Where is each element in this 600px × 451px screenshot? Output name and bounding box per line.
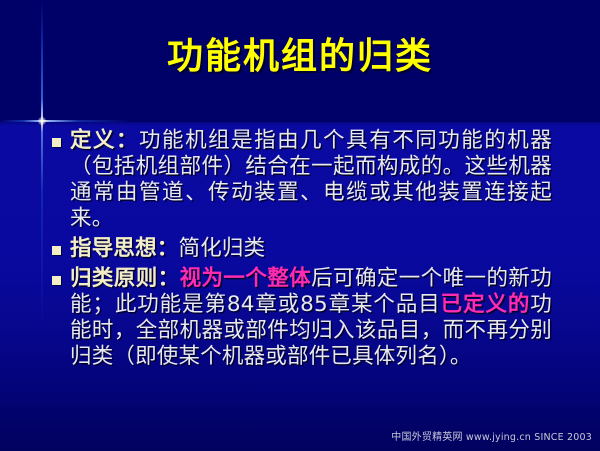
bullet-text: 定义：功能机组是指由几个具有不同功能的机器（包括机组部件）结合在一起而构成的。这… <box>70 128 552 232</box>
bullet-highlight-text: 视为一个整体 <box>180 266 312 291</box>
footer-site-name: 中国外贸精英网 <box>391 432 462 443</box>
footer-url: www.jying.cn <box>466 432 531 443</box>
sparkle-horizontal-ray <box>0 120 130 122</box>
slide-body-list: 定义：功能机组是指由几个具有不同功能的机器（包括机组部件）结合在一起而构成的。这… <box>52 128 552 374</box>
slide-title: 功能机组的归类 <box>0 36 600 77</box>
bullet-lead-label: 定义： <box>70 128 139 153</box>
bullet-item: 归类原则：视为一个整体后可确定一个唯一的新功能；此功能是第84章或85章某个品目… <box>52 266 552 370</box>
bullet-square-icon <box>52 246 61 255</box>
presentation-slide: 功能机组的归类 定义：功能机组是指由几个具有不同功能的机器（包括机组部件）结合在… <box>0 0 600 451</box>
bullet-square-icon <box>52 276 61 285</box>
bullet-text: 指导思想：简化归类 <box>70 236 552 262</box>
slide-footer: 中国外贸精英网 www.jying.cn SINCE 2003 <box>391 428 592 443</box>
bullet-item: 指导思想：简化归类 <box>52 236 552 262</box>
bullet-lead-label: 归类原则： <box>70 266 180 291</box>
bullet-square-icon <box>52 138 61 147</box>
bullet-text: 归类原则：视为一个整体后可确定一个唯一的新功能；此功能是第84章或85章某个品目… <box>70 266 552 370</box>
bullet-body-text: 功能机组是指由几个具有不同功能的机器（包括机组部件）结合在一起而构成的。这些机器… <box>70 128 552 231</box>
sparkle-core <box>38 117 46 125</box>
bullet-item: 定义：功能机组是指由几个具有不同功能的机器（包括机组部件）结合在一起而构成的。这… <box>52 128 552 232</box>
bullet-body-text: 简化归类 <box>179 236 266 261</box>
bullet-highlight-text: 已定义的 <box>441 292 531 317</box>
bullet-lead-label: 指导思想： <box>70 236 179 261</box>
footer-since: SINCE 2003 <box>534 432 592 443</box>
